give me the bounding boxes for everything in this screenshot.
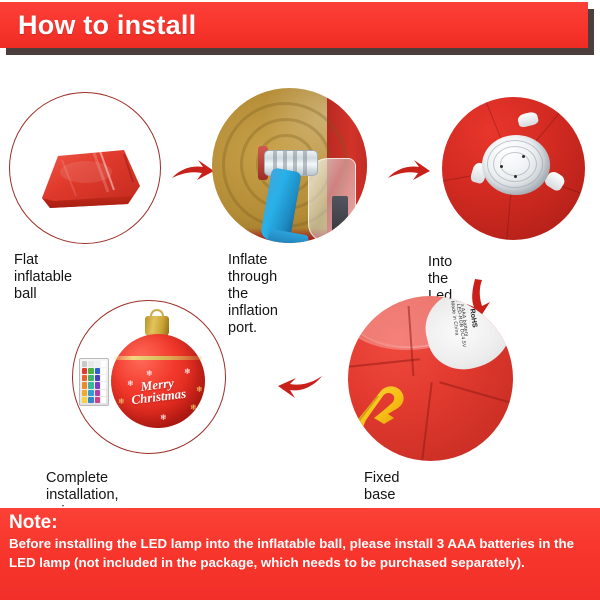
step-4-photo: Model: LED-RGB DC4.5V Made in China 3 x …	[348, 296, 513, 461]
note-title: Note:	[9, 512, 58, 534]
ce-mark: CE	[485, 296, 497, 304]
snowflake-icon-4: ❄	[196, 386, 203, 394]
led-lamp-image	[482, 135, 550, 195]
remote-button-9[interactable]	[82, 375, 87, 381]
remote-button-12[interactable]	[101, 375, 106, 381]
step-2-caption: Inflate through the inflation port.	[228, 252, 278, 337]
step-3-photo	[442, 97, 585, 240]
ball-gold-cap	[145, 316, 169, 336]
step-4-caption: Fixed base	[364, 470, 399, 504]
remote-button-15[interactable]	[95, 382, 100, 388]
step-1-caption: Flat inflatable ball	[14, 252, 72, 303]
remote-button-1[interactable]	[82, 361, 87, 367]
step-2-photo	[212, 88, 367, 243]
remote-button-19[interactable]	[95, 390, 100, 396]
header-banner: How to install	[0, 2, 588, 48]
remote-button-8[interactable]	[101, 368, 106, 374]
remote-button-20[interactable]	[101, 390, 106, 396]
remote-button-24[interactable]	[101, 397, 106, 403]
remote-button-grid[interactable]	[82, 361, 106, 403]
flat-inflatable-ball-image	[28, 146, 146, 216]
remote-button-4[interactable]	[101, 361, 106, 367]
page-title: How to install	[18, 9, 196, 41]
arrow-left-icon	[276, 368, 324, 407]
arrow-right-icon-1	[170, 158, 216, 197]
note-body: Before installing the LED lamp into the …	[9, 534, 589, 572]
yellow-fixed-hook	[354, 380, 416, 438]
remote-button-10[interactable]	[88, 375, 93, 381]
how-to-install-infographic: How to install	[0, 0, 600, 600]
remote-button-16[interactable]	[101, 382, 106, 388]
remote-button-11[interactable]	[95, 375, 100, 381]
remote-button-22[interactable]	[88, 397, 93, 403]
snowflake-icon-7: ❄	[190, 404, 197, 412]
remote-button-2[interactable]	[88, 361, 93, 367]
remote-control[interactable]	[79, 358, 109, 406]
snowflake-icon-6: ❄	[160, 414, 167, 422]
remote-button-5[interactable]	[82, 368, 87, 374]
ball-gold-stripe	[114, 356, 202, 360]
product-label: Model: LED-RGB DC4.5V Made in China 3 x …	[418, 296, 513, 377]
remote-button-23[interactable]	[95, 397, 100, 403]
arrow-right-icon-2	[386, 158, 432, 197]
remote-button-7[interactable]	[95, 368, 100, 374]
adapter-dark-detail	[332, 196, 348, 232]
remote-button-13[interactable]	[82, 382, 87, 388]
note-banner: Note: Before installing the LED lamp int…	[0, 508, 600, 600]
rohs-mark: RoHS	[468, 308, 478, 328]
remote-button-3[interactable]	[95, 361, 100, 367]
remote-button-18[interactable]	[88, 390, 93, 396]
clip-tab-top	[517, 111, 540, 128]
remote-button-14[interactable]	[88, 382, 93, 388]
remote-button-6[interactable]	[88, 368, 93, 374]
remote-button-17[interactable]	[82, 390, 87, 396]
remote-button-21[interactable]	[82, 397, 87, 403]
